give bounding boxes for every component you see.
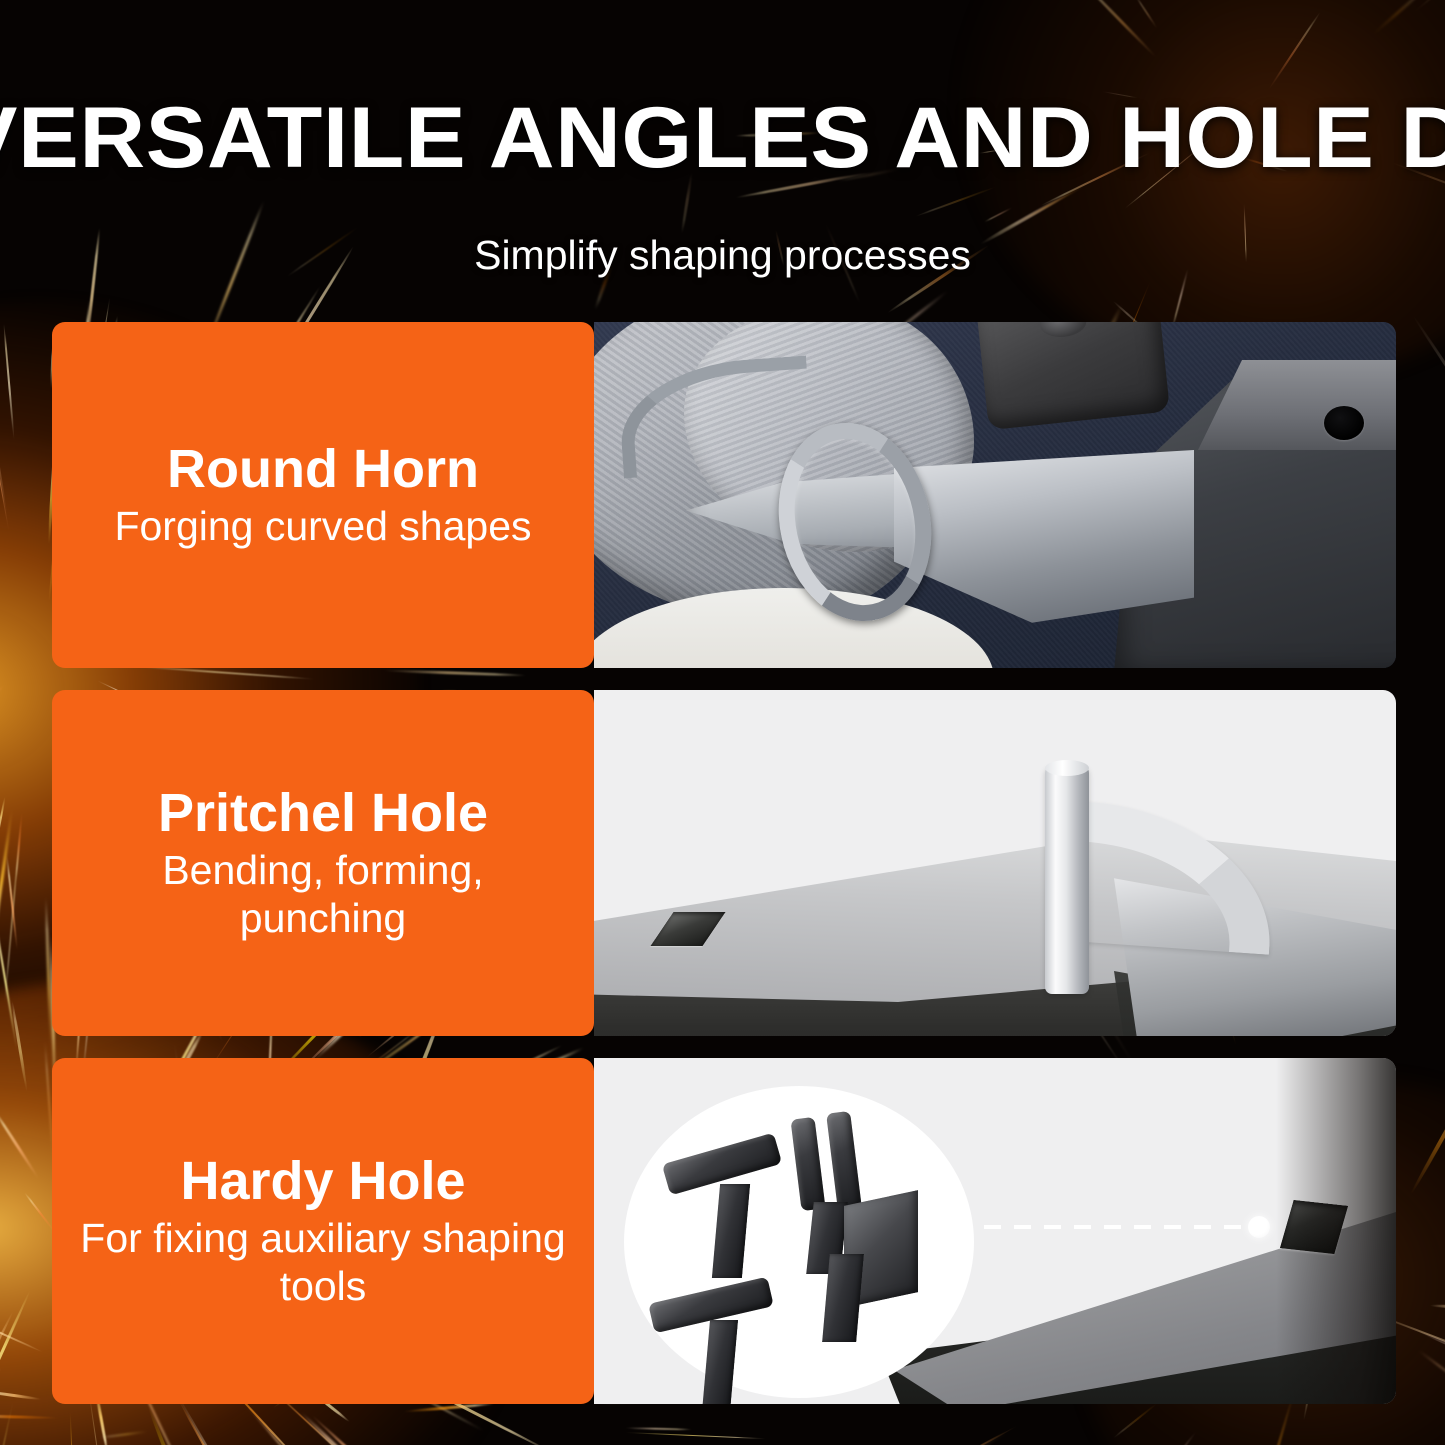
page-subtitle: Simplify shaping processes bbox=[0, 233, 1445, 278]
page-title: VERSATILE ANGLES AND HOLE DESIGN bbox=[0, 95, 1445, 181]
feature-description: For fixing auxiliary shaping tools bbox=[78, 1215, 568, 1311]
hardy-tool-upper-left bbox=[664, 1142, 794, 1282]
feature-title: Pritchel Hole bbox=[158, 783, 488, 843]
feature-card-round-horn: Round Horn Forging curved shapes bbox=[52, 322, 594, 668]
feature-photo-pritchel-hole bbox=[594, 690, 1396, 1036]
feature-list: Round Horn Forging curved shapes bbox=[52, 322, 1396, 1404]
pritchel-hole-icon bbox=[1324, 406, 1364, 440]
bent-rod-arc bbox=[1069, 801, 1278, 955]
hardy-tool-lower-left bbox=[650, 1280, 790, 1404]
photo-edge-vignette bbox=[1276, 1058, 1396, 1404]
hardy-tool-chisel bbox=[820, 1198, 940, 1348]
steel-rod bbox=[1045, 766, 1089, 994]
feature-title: Hardy Hole bbox=[180, 1151, 465, 1211]
feature-description: Bending, forming, punching bbox=[78, 847, 568, 943]
feature-row-pritchel-hole: Pritchel Hole Bending, forming, punching bbox=[52, 690, 1396, 1036]
callout-dashed-line bbox=[954, 1225, 1254, 1229]
feature-description: Forging curved shapes bbox=[114, 503, 531, 551]
feature-photo-round-horn bbox=[594, 322, 1396, 668]
feature-photo-hardy-hole bbox=[594, 1058, 1396, 1404]
feature-row-round-horn: Round Horn Forging curved shapes bbox=[52, 322, 1396, 668]
feature-title: Round Horn bbox=[167, 439, 479, 499]
feature-card-pritchel-hole: Pritchel Hole Bending, forming, punching bbox=[52, 690, 594, 1036]
feature-card-hardy-hole: Hardy Hole For fixing auxiliary shaping … bbox=[52, 1058, 594, 1404]
hammer-icon bbox=[976, 322, 1170, 430]
feature-row-hardy-hole: Hardy Hole For fixing auxiliary shaping … bbox=[52, 1058, 1396, 1404]
